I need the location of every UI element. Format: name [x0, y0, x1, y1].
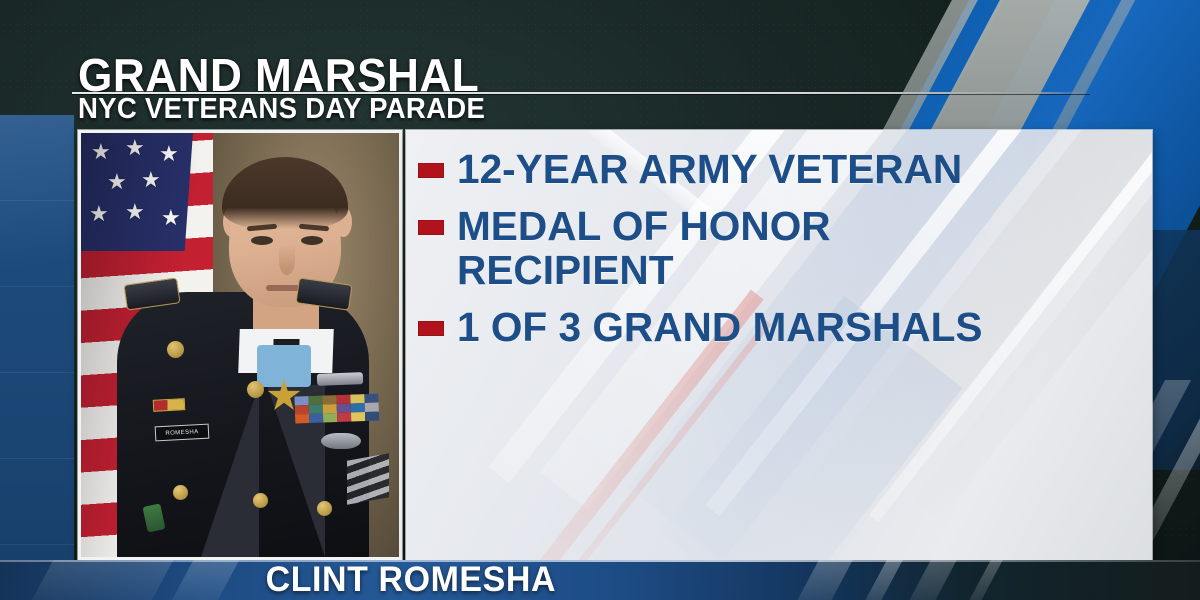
unit-insignia: [153, 398, 186, 412]
list-item-label: MEDAL OF HONOR RECIPIENT: [457, 205, 1032, 292]
bullet-marker-icon: [418, 163, 444, 178]
bullet-marker-icon: [418, 220, 444, 235]
eye-right: [301, 236, 323, 245]
portrait-frame: ★ ★ ★ ★ ★ ★ ★ ★: [78, 130, 402, 560]
assault-badge: [321, 433, 361, 449]
nameplate: ROMESHA: [155, 424, 210, 442]
rank-chevron: [347, 453, 389, 504]
bullet-marker-icon: [418, 321, 444, 336]
broadcast-graphic: GRAND MARSHAL NYC VETERANS DAY PARADE ★ …: [0, 0, 1200, 600]
jacket-button-2: [253, 493, 268, 508]
list-item: 1 OF 3 GRAND MARSHALS: [418, 306, 1038, 349]
nose: [279, 245, 295, 275]
portrait-photo: ★ ★ ★ ★ ★ ★ ★ ★: [81, 133, 399, 557]
jacket-button-1: [173, 485, 188, 500]
combat-badge: [317, 372, 363, 386]
left-accent-strip: [0, 115, 74, 560]
collar-disc-right: [247, 381, 264, 398]
header: GRAND MARSHAL NYC VETERANS DAY PARADE: [0, 0, 1200, 126]
list-item-label: 1 OF 3 GRAND MARSHALS: [457, 306, 982, 349]
page-subtitle: NYC VETERANS DAY PARADE: [78, 93, 485, 126]
list-item: 12-YEAR ARMY VETERAN: [418, 148, 1038, 191]
subject-name: CLINT ROMESHA: [18, 560, 1182, 600]
ribbon-rack: [294, 394, 379, 435]
jacket-lapel-left: [201, 385, 259, 557]
eye-left: [251, 236, 273, 245]
facts-list: 12-YEAR ARMY VETERAN MEDAL OF HONOR RECI…: [418, 148, 1038, 364]
content-panel: 12-YEAR ARMY VETERAN MEDAL OF HONOR RECI…: [406, 130, 1152, 560]
list-item-label: 12-YEAR ARMY VETERAN: [457, 148, 962, 191]
lower-third-banner: CLINT ROMESHA: [0, 560, 1200, 600]
jacket-button-3: [317, 501, 332, 516]
list-item: MEDAL OF HONOR RECIPIENT: [418, 205, 1038, 292]
collar-disc-left: [167, 341, 184, 358]
